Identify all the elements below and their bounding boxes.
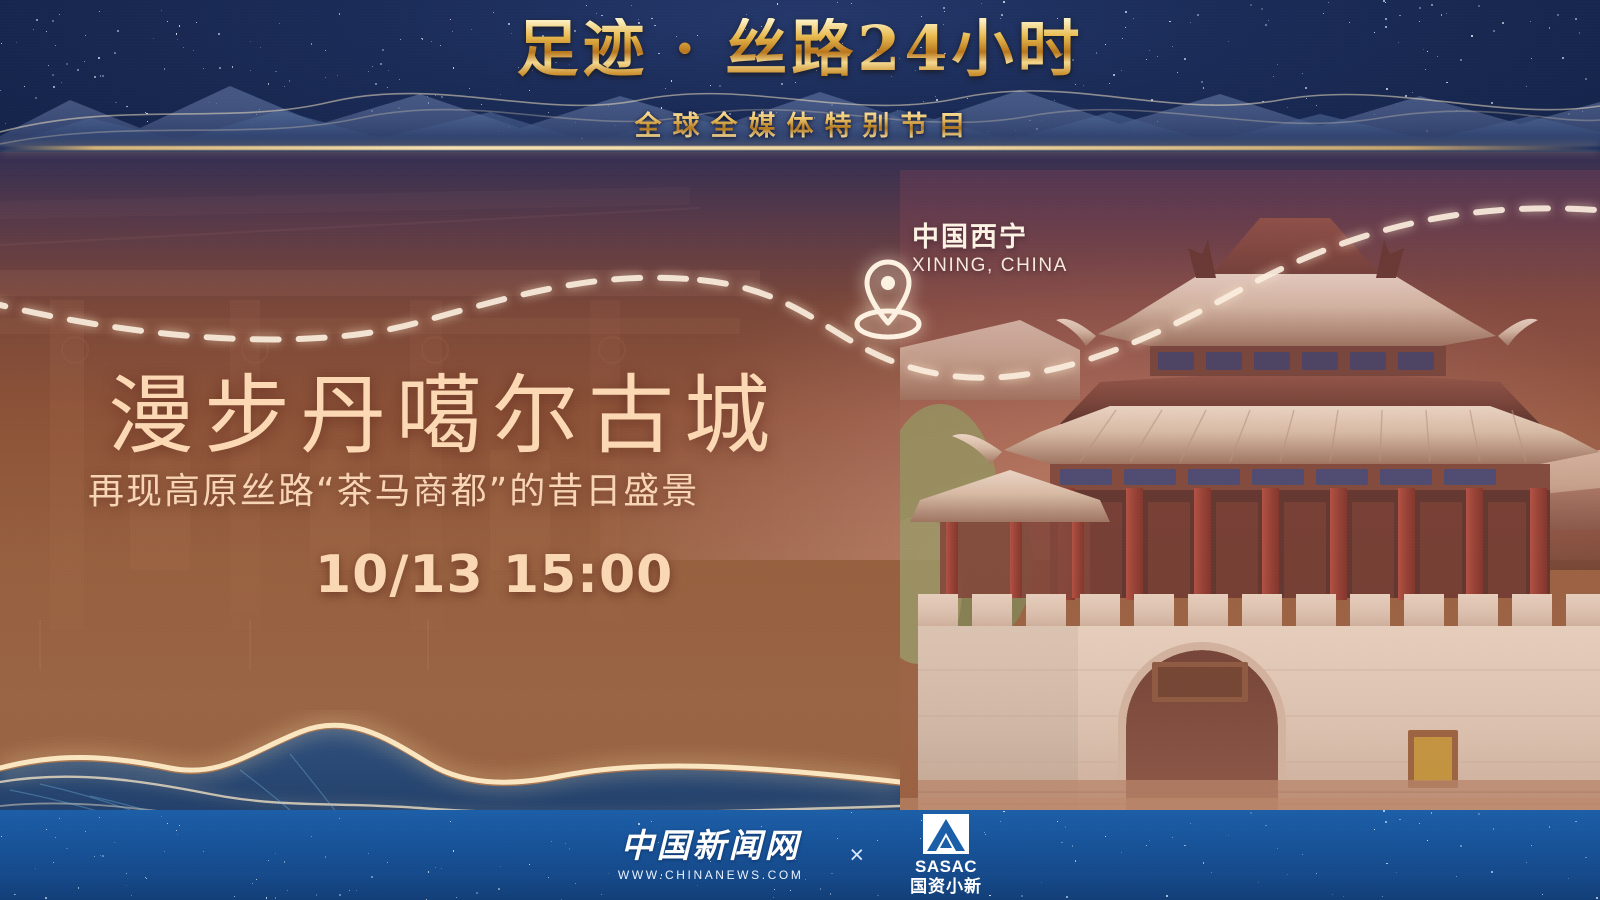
film-grain-overlay	[0, 0, 1600, 900]
promo-poster: 中国西宁 XINING, CHINA	[0, 0, 1600, 900]
